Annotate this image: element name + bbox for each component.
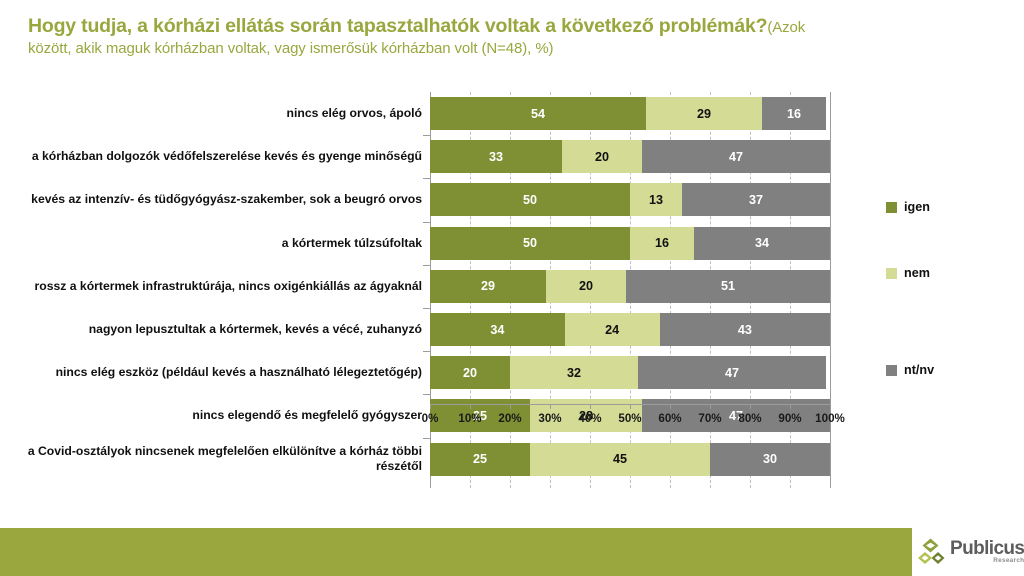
slide-root: Hogy tudja, a kórházi ellátás során tapa… [0, 0, 1024, 576]
page-title: Hogy tudja, a kórházi ellátás során tapa… [28, 14, 988, 58]
bar-segment-nt-nv: 43 [660, 313, 830, 346]
category-label-text: nagyon lepusztultak a kórtermek, kevés a… [89, 322, 422, 337]
bar-row: 342443 [430, 313, 830, 346]
x-axis-tick-label: 60% [658, 412, 681, 425]
x-axis-tick [790, 404, 791, 409]
x-axis-tick-label: 0% [422, 412, 439, 425]
legend-item-igen[interactable]: igen [886, 200, 930, 214]
bar-segment-nem: 24 [565, 313, 660, 346]
bar-row: 501337 [430, 183, 830, 216]
x-axis-tick [630, 404, 631, 409]
legend-label: nem [904, 266, 930, 280]
category-label-text: a Covid-osztályok nincsenek megfelelően … [18, 444, 422, 474]
x-axis-tick [590, 404, 591, 409]
bar-segment-nem: 45 [530, 443, 710, 476]
legend-swatch-icon [886, 365, 897, 376]
legend-swatch-icon [886, 202, 897, 213]
legend-label: nt/nv [904, 363, 934, 377]
y-axis-tick [423, 394, 430, 395]
x-axis-tick-label: 30% [538, 412, 561, 425]
x-axis-tick-labels: 0%10%20%30%40%50%60%70%80%90%100% [0, 412, 1024, 434]
y-axis-tick [423, 308, 430, 309]
bar-segment-nt-nv: 34 [694, 227, 830, 260]
x-axis-tick [430, 404, 431, 409]
bar-segment-igen: 25 [430, 443, 530, 476]
x-axis-tick-label: 100% [815, 412, 845, 425]
x-axis-tick [510, 404, 511, 409]
bar-segment-igen: 29 [430, 270, 546, 303]
bar-segment-nt-nv: 16 [762, 97, 826, 130]
y-axis-tick [423, 135, 430, 136]
x-axis-tick [710, 404, 711, 409]
y-axis-tick [423, 178, 430, 179]
x-axis-tick [470, 404, 471, 409]
publicus-diamond-icon [916, 537, 946, 567]
bar-segment-nem: 13 [630, 183, 682, 216]
x-axis-tick-label: 80% [738, 412, 761, 425]
bar-row: 254530 [430, 443, 830, 476]
brand-logo-text: Publicus Research [950, 539, 1024, 564]
category-label-text: rossz a kórtermek infrastruktúrája, ninc… [35, 279, 422, 294]
bar-segment-igen: 33 [430, 140, 562, 173]
brand-name: Publicus [950, 539, 1024, 558]
bar-row: 292051 [430, 270, 830, 303]
x-axis-tick [670, 404, 671, 409]
x-axis-tick-label: 40% [578, 412, 601, 425]
bar-segment-nt-nv: 47 [642, 140, 830, 173]
x-axis-tick-label: 70% [698, 412, 721, 425]
category-label-text: nincs elég eszköz (például kevés a haszn… [56, 365, 422, 380]
bar-segment-igen: 54 [430, 97, 646, 130]
x-axis-tick-label: 90% [778, 412, 801, 425]
x-axis-tick [830, 404, 831, 409]
bar-segment-nem: 20 [546, 270, 626, 303]
bar-segment-nem: 32 [510, 356, 638, 389]
page-title-main: Hogy tudja, a kórházi ellátás során tapa… [28, 15, 767, 37]
y-axis-tick [423, 265, 430, 266]
footer-bar [0, 528, 912, 576]
category-label: nincs elég eszköz (például kevés a haszn… [18, 356, 422, 389]
bar-segment-igen: 34 [430, 313, 565, 346]
bar-row: 542916 [430, 97, 830, 130]
category-label-text: a kórtermek túlzsúfoltak [282, 236, 422, 251]
bar-row: 332047 [430, 140, 830, 173]
bar-row: 501634 [430, 227, 830, 260]
bar-row: 203247 [430, 356, 830, 389]
bar-segment-nem: 16 [630, 227, 694, 260]
x-axis-tick [750, 404, 751, 409]
bar-segment-nt-nv: 30 [710, 443, 830, 476]
category-label: nincs elég orvos, ápoló [18, 97, 422, 130]
category-label: a kórházban dolgozók védőfelszerelése ke… [18, 140, 422, 173]
bar-segment-igen: 50 [430, 183, 630, 216]
bar-segment-nem: 20 [562, 140, 642, 173]
category-label: kevés az intenzív- és tüdőgyógyász-szake… [18, 183, 422, 216]
category-label-text: nincs elég orvos, ápoló [287, 106, 422, 121]
x-axis-tick-label: 10% [458, 412, 481, 425]
y-axis-tick [423, 222, 430, 223]
brand-tagline: Research [993, 558, 1024, 564]
bar-segment-igen: 50 [430, 227, 630, 260]
legend-item-nem[interactable]: nem [886, 266, 930, 280]
legend-swatch-icon [886, 268, 897, 279]
legend-label: igen [904, 200, 930, 214]
stacked-bar-chart: nincs elég orvos, ápolóa kórházban dolgo… [0, 88, 1024, 513]
bar-segment-igen: 20 [430, 356, 510, 389]
x-axis-tick-label: 20% [498, 412, 521, 425]
page-title-sub-inline: (Azok [767, 19, 805, 36]
category-label-text: a kórházban dolgozók védőfelszerelése ke… [32, 149, 422, 164]
category-label: a Covid-osztályok nincsenek megfelelően … [18, 443, 422, 476]
bar-segment-nt-nv: 51 [626, 270, 830, 303]
legend-item-nt-nv[interactable]: nt/nv [886, 363, 934, 377]
category-label-text: kevés az intenzív- és tüdőgyógyász-szake… [31, 192, 422, 207]
chart-legend: igennemnt/nv [886, 88, 1016, 488]
x-axis-tick [550, 404, 551, 409]
category-label: nagyon lepusztultak a kórtermek, kevés a… [18, 313, 422, 346]
x-axis-tick-label: 50% [618, 412, 641, 425]
brand-logo: Publicus Research [912, 528, 1024, 576]
category-label: a kórtermek túlzsúfoltak [18, 227, 422, 260]
bar-segment-nt-nv: 37 [682, 183, 830, 216]
bar-segment-nt-nv: 47 [638, 356, 826, 389]
page-title-sub: között, akik maguk kórházban voltak, vag… [28, 39, 988, 58]
category-label: rossz a kórtermek infrastruktúrája, ninc… [18, 270, 422, 303]
y-axis-tick [423, 351, 430, 352]
y-axis-tick [423, 438, 430, 439]
bar-segment-nem: 29 [646, 97, 762, 130]
